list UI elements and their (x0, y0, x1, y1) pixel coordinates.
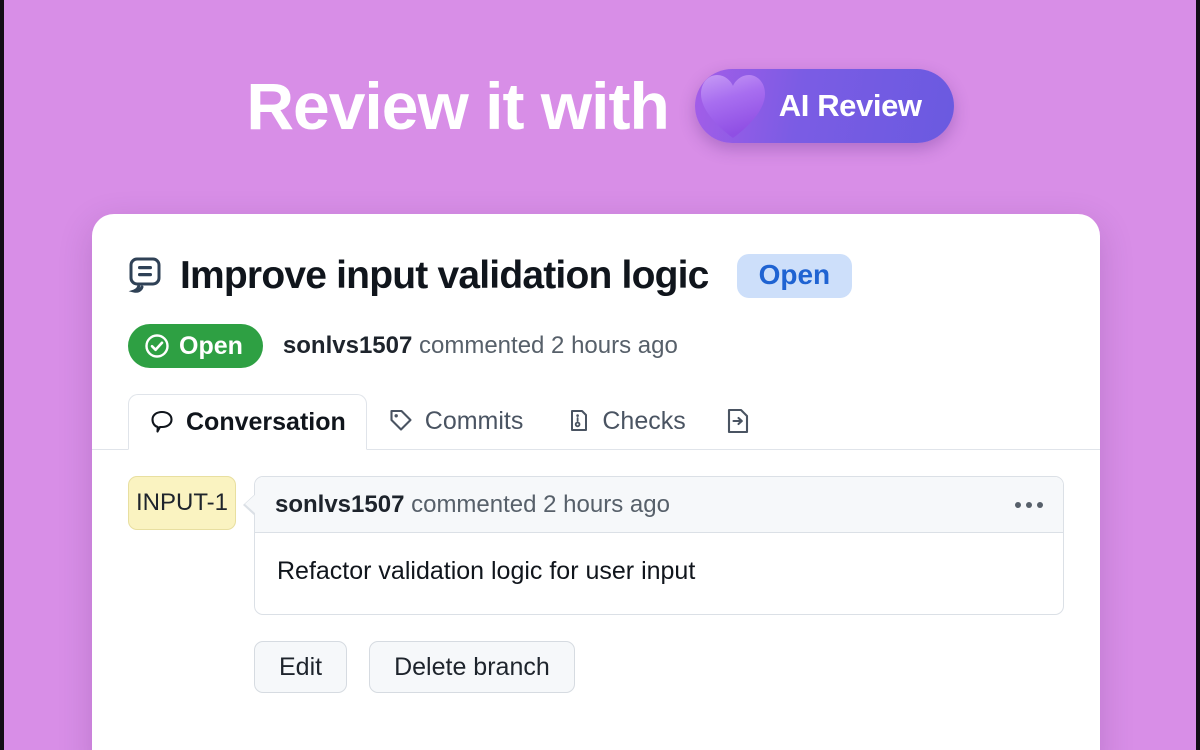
conversation-panel: INPUT-1 sonlvs1507 commented 2 hours ago… (92, 450, 1100, 693)
tab-bar: Conversation Commits Checks (92, 394, 1100, 450)
comment-icon (149, 409, 175, 435)
kebab-horizontal-icon[interactable] (1015, 502, 1043, 508)
left-edge-strip (0, 0, 4, 750)
ai-review-pill[interactable]: AI Review (695, 69, 954, 143)
status-badge-label: Open (179, 334, 243, 359)
purple-heart-icon (697, 72, 769, 140)
status-badge: Open (128, 324, 263, 368)
hero-banner: Review it with AI Review (0, 52, 1200, 160)
card-header: Improve input validation logic Open Open… (92, 214, 1100, 368)
hero-headline: Review it with (246, 73, 668, 139)
avatar: INPUT-1 (128, 476, 236, 530)
right-edge-strip (1196, 0, 1200, 750)
comment-timestamp: commented 2 hours ago (411, 491, 670, 518)
state-badge-header: Open (737, 254, 853, 298)
pull-request-card: Improve input validation logic Open Open… (92, 214, 1100, 750)
comment-byline: sonlvs1507 commented 2 hours ago (275, 491, 670, 519)
file-diff-arrow-icon (724, 407, 752, 435)
title-row: Improve input validation logic Open (128, 254, 1064, 298)
meta-row: Open sonlvs1507 commented 2 hours ago (128, 324, 1064, 368)
comment-author: sonlvs1507 (275, 491, 404, 518)
comment-card: sonlvs1507 commented 2 hours ago Refacto… (254, 476, 1064, 615)
tab-conversation-label: Conversation (186, 408, 346, 437)
tab-files-changed[interactable] (707, 393, 780, 449)
meta-byline: sonlvs1507 commented 2 hours ago (283, 332, 678, 360)
tab-commits-label: Commits (425, 407, 524, 436)
ai-review-label: AI Review (779, 88, 922, 124)
page-title: Improve input validation logic (180, 254, 709, 298)
comment-discussion-icon (128, 257, 162, 295)
tag-icon (388, 408, 414, 434)
tab-commits[interactable]: Commits (367, 393, 545, 449)
comment-body: Refactor validation logic for user input (255, 533, 1063, 614)
meta-timestamp: commented 2 hours ago (419, 332, 678, 359)
delete-branch-button[interactable]: Delete branch (369, 641, 575, 693)
tab-conversation[interactable]: Conversation (128, 394, 367, 450)
edit-button[interactable]: Edit (254, 641, 347, 693)
checks-branch-icon (565, 408, 591, 434)
comment-thread-item: INPUT-1 sonlvs1507 commented 2 hours ago… (128, 476, 1064, 615)
tab-checks-label: Checks (602, 407, 685, 436)
comment-header: sonlvs1507 commented 2 hours ago (255, 477, 1063, 533)
check-circle-icon (144, 333, 170, 359)
action-row: Edit Delete branch (128, 641, 1064, 693)
meta-author: sonlvs1507 (283, 332, 412, 359)
tab-checks[interactable]: Checks (544, 393, 706, 449)
